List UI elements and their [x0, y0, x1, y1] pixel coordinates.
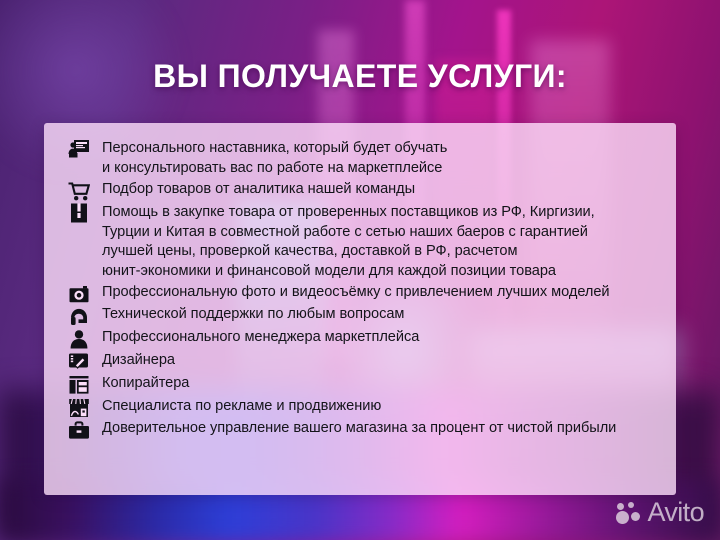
promo-banner: ВЫ ПОЛУЧАЕТЕ УСЛУГИ: Персо [0, 0, 720, 540]
briefcase-icon [56, 419, 102, 440]
list-item-line: Персонального наставника, который будет … [102, 139, 447, 159]
list-item-text: Дизайнера [102, 351, 175, 371]
list-item-text: Технической поддержки по любым вопросам [102, 305, 404, 325]
list-item: Персонального наставника, который будет … [56, 137, 664, 178]
list-item: Профессионального менеджера маркетплейса [56, 327, 664, 349]
list-item-line: Профессиональную фото и видеосъёмку с пр… [102, 283, 610, 303]
list-item-text: Копирайтера [102, 374, 189, 394]
list-item-line: и консультировать вас по работе на марке… [102, 159, 447, 179]
headset-support-icon [56, 305, 102, 326]
camera-icon [56, 283, 102, 304]
avito-dots-icon [616, 501, 642, 525]
list-item-line: Дизайнера [102, 351, 175, 371]
document-layout-icon [56, 373, 102, 395]
list-item: Доверительное управление вашего магазина… [56, 419, 664, 440]
page-title: ВЫ ПОЛУЧАЕТЕ УСЛУГИ: [0, 58, 720, 95]
avito-wordmark: Avito [647, 499, 704, 526]
list-item-text: Профессионального менеджера маркетплейса [102, 328, 419, 348]
list-item-line: Профессионального менеджера маркетплейса [102, 328, 419, 348]
shopping-cart-icon [56, 179, 102, 201]
list-item: Профессиональную фото и видеосъёмку с пр… [56, 283, 664, 304]
list-item-line: Помощь в закупке товара от проверенных п… [102, 203, 595, 223]
services-card: Персонального наставника, который будет … [44, 123, 676, 495]
list-item: Дизайнера [56, 350, 664, 372]
design-tablet-stylus-icon [56, 350, 102, 372]
list-item: Помощь в закупке товара от проверенных п… [56, 202, 664, 281]
list-item-line: Копирайтера [102, 374, 189, 394]
list-item-line: Доверительное управление вашего магазина… [102, 419, 616, 439]
list-item-text: Подбор товаров от аналитика нашей команд… [102, 180, 415, 200]
list-item: Копирайтера [56, 373, 664, 395]
list-item-line: Подбор товаров от аналитика нашей команд… [102, 180, 415, 200]
list-item-line: Специалиста по рекламе и продвижению [102, 397, 381, 417]
list-item-text: Персонального наставника, который будет … [102, 137, 447, 178]
avito-logo: Avito [616, 499, 704, 526]
list-item-line: Турции и Китая в совместной работе с сет… [102, 223, 595, 243]
list-item-line: Технической поддержки по любым вопросам [102, 305, 404, 325]
services-list: Персонального наставника, который будет … [44, 123, 676, 495]
list-item-text: Доверительное управление вашего магазина… [102, 419, 616, 439]
package-box-icon [56, 202, 102, 224]
list-item-line: лучшей цены, проверкой качества, доставк… [102, 242, 595, 262]
list-item-line: юнит-экономики и финансовой модели для к… [102, 262, 595, 282]
storefront-icon [56, 396, 102, 418]
list-item-text: Помощь в закупке товара от проверенных п… [102, 202, 595, 281]
list-item: Технической поддержки по любым вопросам [56, 305, 664, 326]
presentation-teacher-icon [56, 137, 102, 159]
list-item-text: Профессиональную фото и видеосъёмку с пр… [102, 283, 610, 303]
list-item: Специалиста по рекламе и продвижению [56, 396, 664, 418]
person-icon [56, 327, 102, 349]
list-item: Подбор товаров от аналитика нашей команд… [56, 179, 664, 201]
list-item-text: Специалиста по рекламе и продвижению [102, 397, 381, 417]
